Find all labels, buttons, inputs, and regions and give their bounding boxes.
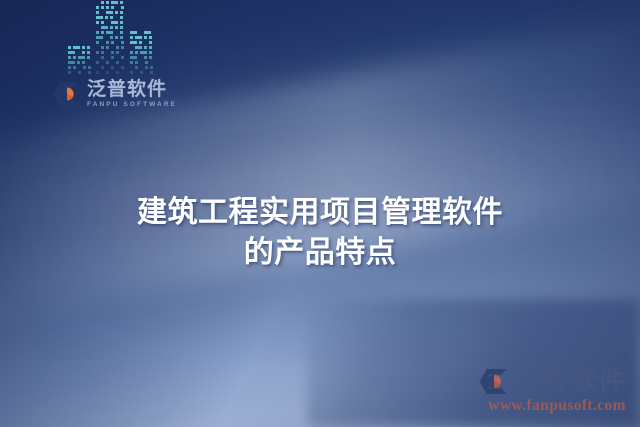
watermark-logo-row: 泛普软件 <box>478 368 626 395</box>
watermark-url: www.fanpusoft.com <box>478 397 626 415</box>
watermark: 泛普软件 www.fanpusoft.com <box>478 368 626 415</box>
brand-name-en: FANPU SOFTWARE <box>87 102 177 109</box>
page-title-line-1: 建筑工程实用项目管理软件 <box>0 193 640 233</box>
promo-banner: 泛普软件 FANPU SOFTWARE 建筑工程实用项目管理软件 的产品特点 泛… <box>0 0 640 427</box>
page-title: 建筑工程实用项目管理软件 的产品特点 <box>0 193 640 273</box>
page-title-line-2: 的产品特点 <box>0 233 640 273</box>
fanpu-arrow-logo-icon <box>478 368 508 395</box>
fanpu-arrow-logo-icon <box>52 81 80 107</box>
watermark-name-cn: 泛普软件 <box>514 368 626 395</box>
pixel-city-skyline-icon <box>68 18 168 74</box>
brand-wordmark: 泛普软件 FANPU SOFTWARE <box>52 80 232 109</box>
brand-block: 泛普软件 FANPU SOFTWARE <box>52 18 232 109</box>
brand-name-cn: 泛普软件 <box>87 80 177 99</box>
